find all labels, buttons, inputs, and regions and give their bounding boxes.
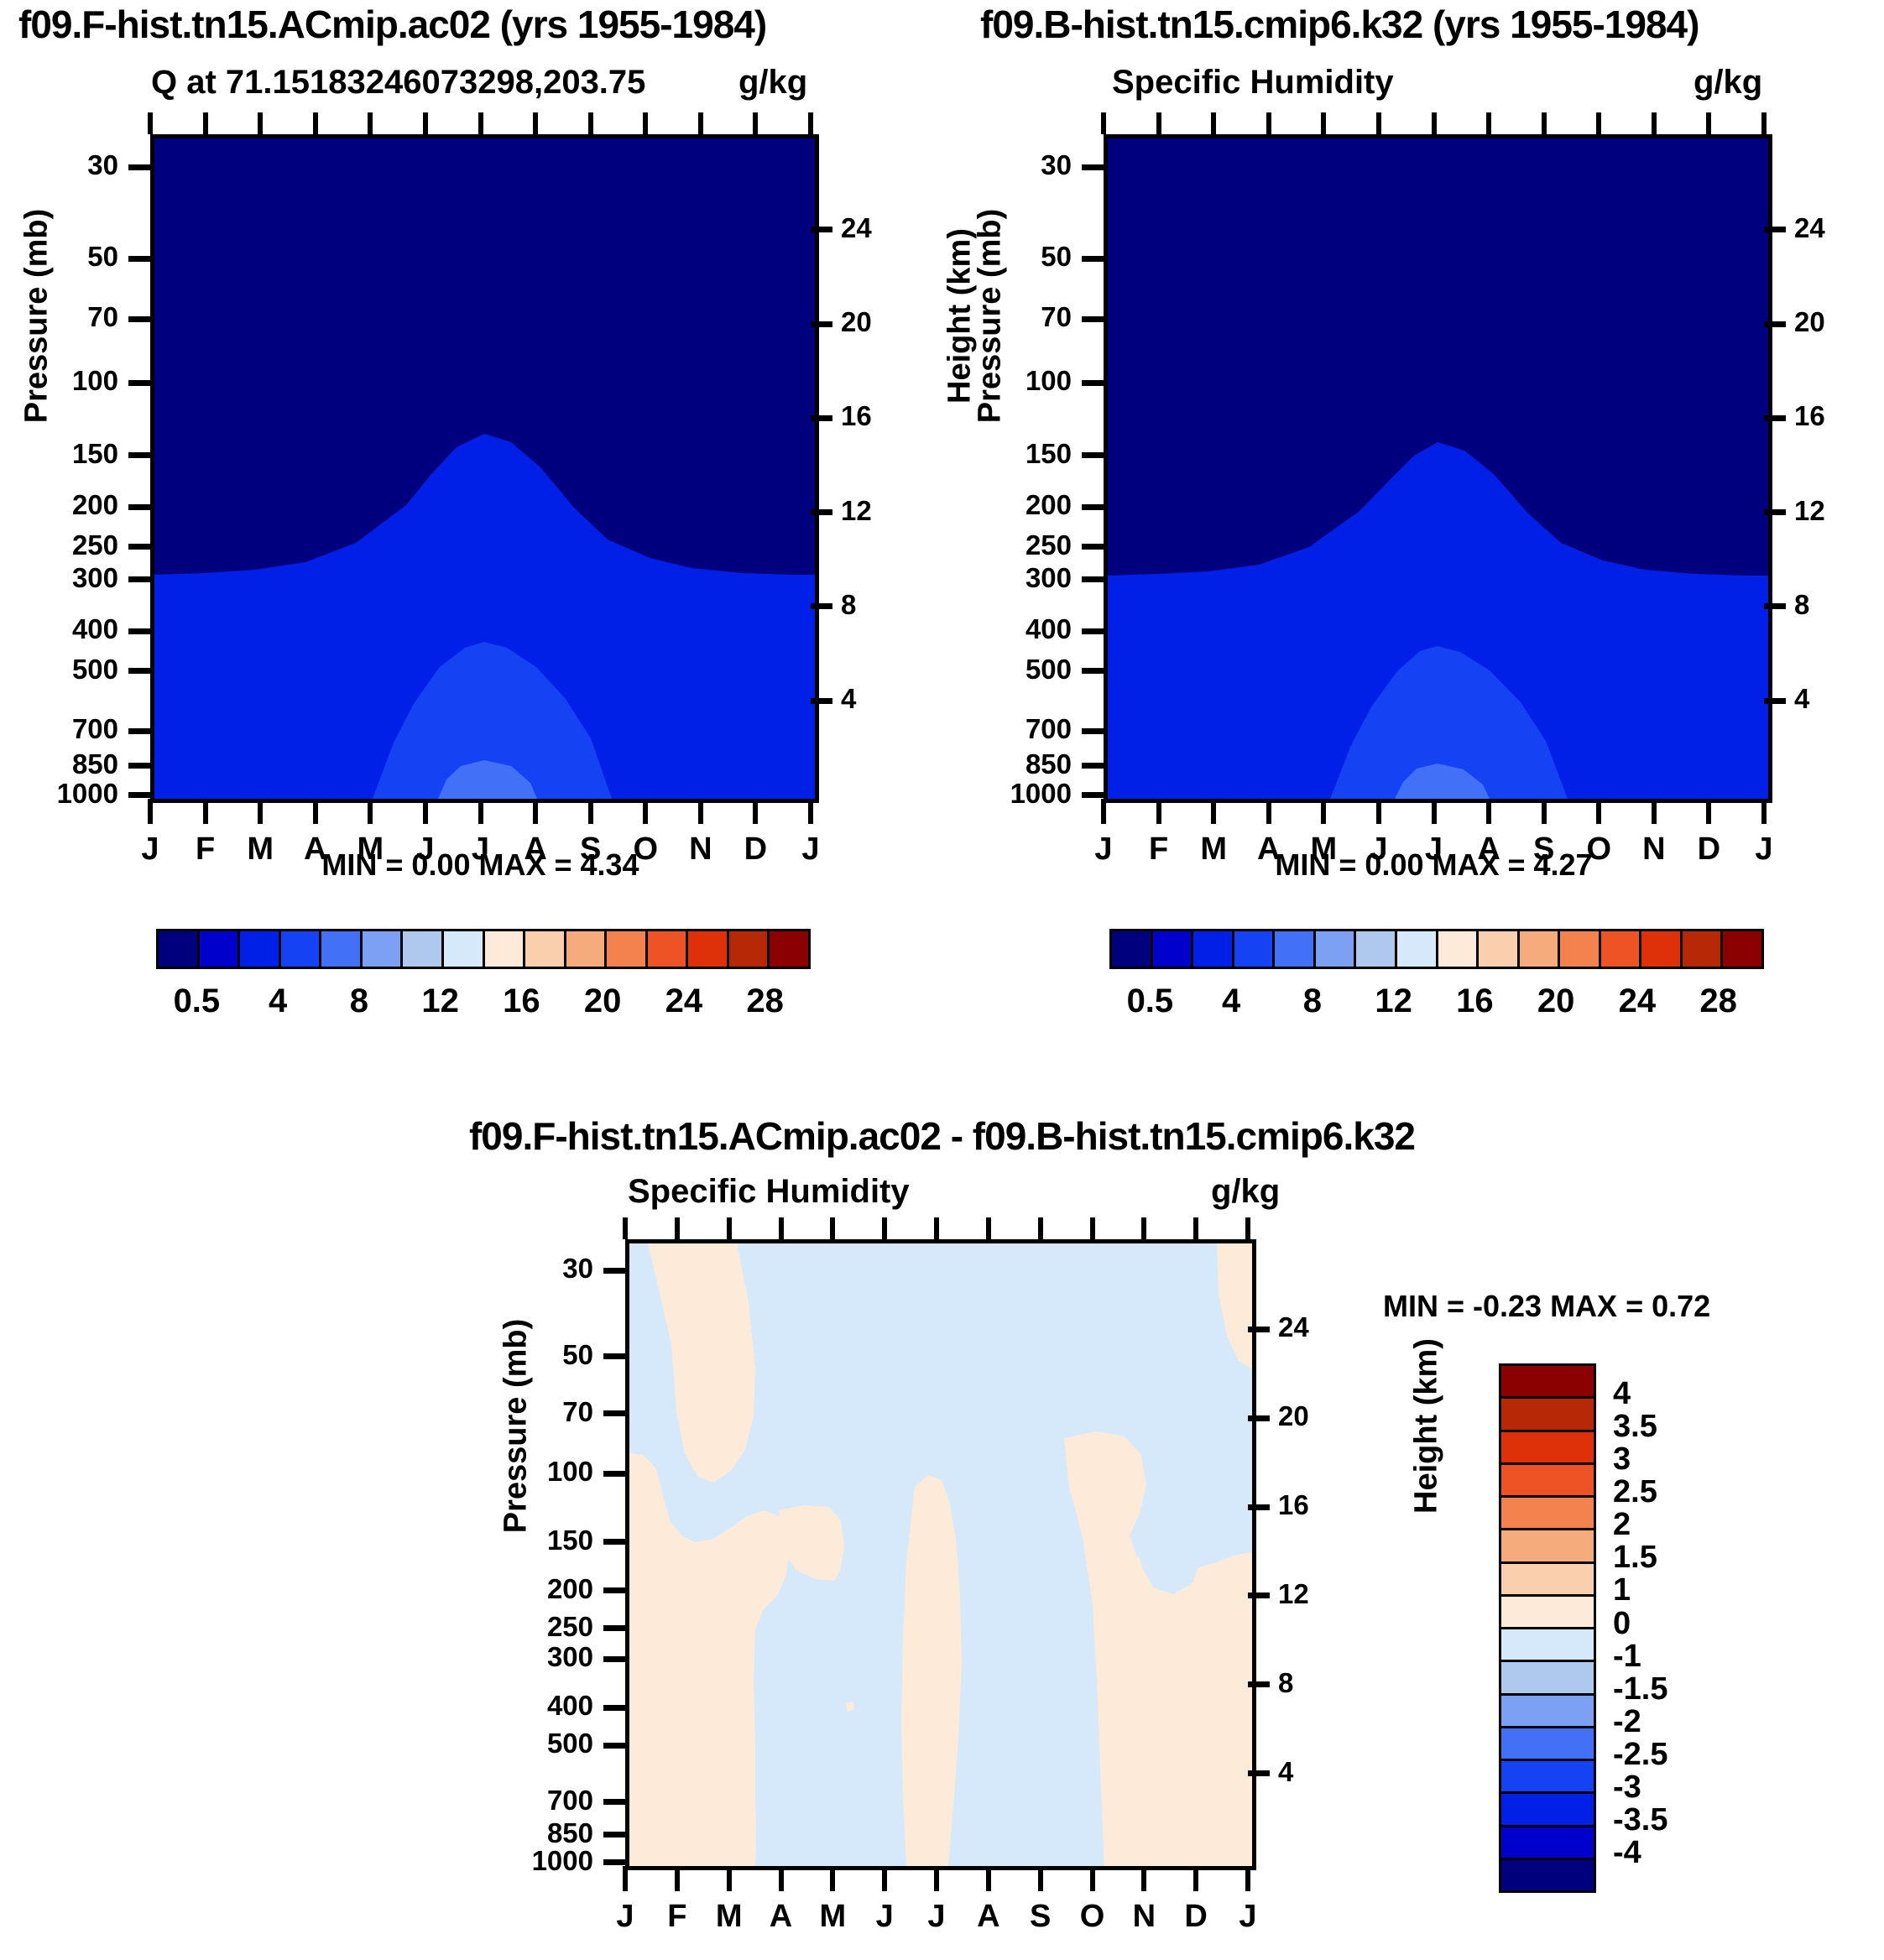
bottom-tick [808,799,813,824]
height-tick-label-24: 24 [1794,212,1861,244]
height-tick [811,415,832,421]
diff-panel-units: g/kg [1211,1173,1280,1211]
pressure-tick-label-500: 500 [911,654,1072,685]
diff-colorbar-swatch-8[interactable] [1501,1629,1594,1662]
height-tick [811,321,832,327]
colorbar-swatch-14[interactable] [1683,931,1724,967]
colorbar-swatch-11[interactable] [607,931,648,967]
diff-colorbar-swatch-11[interactable] [1501,1728,1594,1761]
pressure-tick-label-200: 200 [0,489,118,521]
height-tick [1764,603,1786,609]
height-tick [1248,1327,1270,1332]
height-tick-label-4: 4 [841,683,908,715]
top-tick [258,112,263,134]
top-tick [643,112,648,134]
top-tick [1432,112,1437,134]
pressure-tick-label-700: 700 [911,713,1072,745]
pressure-tick [603,1705,625,1711]
pressure-tick-label-150: 150 [432,1525,593,1556]
pressure-tick-label-150: 150 [911,438,1072,470]
bottom-tick [1542,799,1547,824]
pressure-tick-label-500: 500 [432,1728,593,1759]
bottom-tick [148,799,153,824]
pressure-tick-label-100: 100 [432,1456,593,1488]
bottom-tick [1090,1866,1095,1891]
bottom-tick [1193,1866,1198,1891]
top-tick [1706,112,1711,134]
pressure-tick-label-700: 700 [0,713,118,745]
top-tick [1376,112,1381,134]
left-panel-title: f09.F-hist.tn15.ACmip.ac02 (yrs 1955-198… [18,2,766,47]
colorbar-swatch-2[interactable] [1193,931,1234,967]
diff-colorbar-label-12: -3 [1613,1770,1756,1806]
pressure-tick [1082,452,1104,458]
top-tick [1652,112,1657,134]
pressure-tick [128,728,150,734]
diff-colorbar-swatch-2[interactable] [1501,1432,1594,1465]
pressure-tick [1082,576,1104,582]
pressure-tick [603,1625,625,1631]
top-tick [1090,1217,1095,1239]
top-tick [753,112,758,134]
bottom-tick [313,799,318,824]
diff-colorbar-label-5: 1.5 [1613,1540,1756,1576]
pressure-tick-label-30: 30 [911,149,1072,181]
bottom-tick [368,799,373,824]
colorbar-swatch-14[interactable] [729,931,770,967]
height-tick [1764,509,1786,515]
colorbar-swatch-8[interactable] [485,931,526,967]
height-tick [811,227,832,232]
diff-panel-y2label: Height (km) [1409,1317,1445,1535]
top-tick [1486,112,1491,134]
right-panel-units: g/kg [1694,64,1762,102]
bottom-tick [727,1866,732,1891]
top-tick [588,112,593,134]
bottom-tick [675,1866,680,1891]
height-tick-label-4: 4 [1794,683,1861,715]
pressure-tick [1082,316,1104,322]
diff-colorbar-label-0: 4 [1613,1376,1756,1412]
diff-colorbar-swatch-14[interactable] [1501,1827,1594,1860]
diff-colorbar-swatch-4[interactable] [1501,1498,1594,1530]
diff-panel-subtitle: Specific Humidity [628,1173,910,1211]
top-tick [986,1217,991,1239]
pressure-tick [603,1539,625,1545]
height-tick [1248,1770,1270,1776]
diff-colorbar-label-1: 3.5 [1613,1409,1756,1445]
pressure-tick-label-850: 850 [911,748,1072,780]
colorbar-swatch-1[interactable] [1153,931,1194,967]
right-panel-minmax: MIN = 0.00 MAX = 4.27 [1104,847,1764,883]
pressure-tick-label-200: 200 [911,489,1072,521]
colorbar-swatch-10[interactable] [1520,931,1561,967]
diff-colorbar-swatch-1[interactable] [1501,1399,1594,1431]
top-tick [313,112,318,134]
colorbar-swatch-15[interactable] [1723,931,1761,967]
pressure-tick-label-850: 850 [0,748,118,780]
left-panel-subtitle: Q at 71.15183246073298,203.75 [151,64,645,102]
right-panel-title: f09.B-hist.tn15.cmip6.k32 (yrs 1955-1984… [980,2,1699,47]
pressure-tick [1082,380,1104,386]
pressure-tick [603,1799,625,1805]
top-tick [423,112,428,134]
height-tick-label-24: 24 [1278,1311,1345,1343]
top-tick [779,1217,784,1239]
pressure-tick [603,1587,625,1593]
height-tick [1764,321,1786,327]
colorbar-label-28: 28 [707,983,824,1020]
colorbar-swatch-11[interactable] [1560,931,1601,967]
top-tick [1761,112,1767,134]
bottom-tick [1245,1866,1250,1891]
pressure-tick-label-1000: 1000 [432,1845,593,1877]
pressure-tick-label-400: 400 [911,613,1072,645]
pressure-tick-label-150: 150 [0,438,118,470]
diff-colorbar-swatch-13[interactable] [1501,1794,1594,1827]
bottom-tick [588,799,593,824]
height-tick-label-8: 8 [1278,1667,1345,1699]
bottom-tick [1211,799,1216,824]
colorbar-swatch-3[interactable] [1234,931,1276,967]
diff-colorbar-label-13: -3.5 [1613,1802,1756,1838]
bottom-tick [1761,799,1767,824]
pressure-tick-label-250: 250 [911,529,1072,561]
diff-colorbar-label-11: -2.5 [1613,1737,1756,1773]
top-tick [1193,1217,1198,1239]
diff-panel-contours [629,1243,1252,1866]
pressure-tick-label-100: 100 [0,365,118,397]
bottom-tick [1038,1866,1043,1891]
colorbar-swatch-1[interactable] [200,931,241,967]
pressure-tick [1082,256,1104,262]
height-tick-label-16: 16 [841,400,908,432]
top-tick [1596,112,1601,134]
top-tick [533,112,538,134]
height-tick-label-20: 20 [841,306,908,338]
bottom-tick [478,799,483,824]
diff-colorbar-label-10: -2 [1613,1704,1756,1740]
top-tick [727,1217,732,1239]
top-tick [698,112,703,134]
colorbar-swatch-5[interactable] [1316,931,1357,967]
top-tick [934,1217,939,1239]
left-panel-minmax: MIN = 0.00 MAX = 4.34 [150,847,811,883]
diff-colorbar-swatch-5[interactable] [1501,1530,1594,1563]
pressure-tick [128,256,150,262]
top-tick [1211,112,1216,134]
diff-colorbar[interactable] [1499,1363,1596,1893]
pressure-tick-label-70: 70 [432,1396,593,1428]
height-tick [1764,227,1786,232]
bottom-tick [986,1866,991,1891]
right-panel-plot [1104,134,1772,803]
top-tick [478,112,483,134]
top-tick [1266,112,1271,134]
colorbar-swatch-7[interactable] [1397,931,1438,967]
diff-colorbar-swatch-7[interactable] [1501,1597,1594,1629]
bottom-tick [203,799,208,824]
pressure-tick [128,164,150,170]
top-tick [675,1217,680,1239]
diff-colorbar-label-4: 2 [1613,1507,1756,1543]
diff-colorbar-swatch-6[interactable] [1501,1564,1594,1597]
pressure-tick [603,1832,625,1837]
pressure-tick-label-250: 250 [432,1611,593,1643]
pressure-tick-label-30: 30 [432,1253,593,1285]
pressure-tick-label-300: 300 [911,562,1072,594]
pressure-tick [128,316,150,322]
height-tick [811,509,832,515]
colorbar-label-28: 28 [1660,983,1777,1020]
top-tick [148,112,153,134]
top-tick [1542,112,1547,134]
left-panel-plot [150,134,819,803]
bottom-tick [830,1866,835,1891]
pressure-tick [128,628,150,634]
bottom-tick [882,1866,887,1891]
top-tick [1321,112,1326,134]
pressure-tick [128,504,150,510]
pressure-tick-label-50: 50 [0,241,118,273]
height-tick [1764,415,1786,421]
diff-colorbar-label-14: -4 [1613,1835,1756,1871]
height-tick-label-16: 16 [1278,1489,1345,1521]
pressure-tick-label-70: 70 [911,301,1072,333]
pressure-tick [1082,164,1104,170]
diff-colorbar-label-3: 2.5 [1613,1474,1756,1510]
colorbar-swatch-13[interactable] [1641,931,1683,967]
pressure-tick [1082,792,1104,798]
colorbar-swatch-2[interactable] [240,931,281,967]
pressure-tick [128,544,150,550]
bottom-tick [1652,799,1657,824]
top-tick [203,112,208,134]
height-tick-label-20: 20 [1278,1400,1345,1432]
colorbar-swatch-10[interactable] [566,931,608,967]
bottom-tick [1596,799,1601,824]
pressure-tick [128,452,150,458]
top-tick [1101,112,1106,134]
pressure-tick [603,1268,625,1274]
height-tick [1248,1681,1270,1687]
top-tick [1245,1217,1250,1239]
colorbar-swatch-12[interactable] [1601,931,1642,967]
colorbar-swatch-8[interactable] [1438,931,1480,967]
height-tick [1248,1504,1270,1510]
height-tick-label-12: 12 [1278,1578,1345,1610]
month-label-12: J [1214,1899,1281,1935]
colorbar-swatch-4[interactable] [321,931,363,967]
pressure-tick-label-400: 400 [0,613,118,645]
pressure-tick [603,1410,625,1416]
top-tick [368,112,373,134]
diff-colorbar-label-2: 3 [1613,1441,1756,1478]
pressure-tick [603,1743,625,1749]
diff-colorbar-swatch-0[interactable] [1501,1366,1594,1399]
pressure-tick-label-1000: 1000 [911,778,1072,810]
colorbar-swatch-5[interactable] [363,931,404,967]
pressure-tick-label-250: 250 [0,529,118,561]
bottom-tick [623,1866,628,1891]
pressure-tick-label-200: 200 [432,1573,593,1605]
height-tick-label-8: 8 [841,589,908,621]
colorbar-swatch-7[interactable] [444,931,485,967]
pressure-tick-label-30: 30 [0,149,118,181]
pressure-tick [1082,628,1104,634]
right-panel-subtitle: Specific Humidity [1112,64,1394,102]
height-tick [811,698,832,704]
pressure-tick-label-100: 100 [911,365,1072,397]
bottom-tick [423,799,428,824]
top-tick [1156,112,1161,134]
bottom-tick [1706,799,1711,824]
pressure-tick-label-300: 300 [0,562,118,594]
pressure-tick-label-400: 400 [432,1690,593,1722]
pressure-tick-label-500: 500 [0,654,118,685]
height-tick-label-20: 20 [1794,306,1861,338]
pressure-tick [603,1353,625,1359]
height-tick [811,603,832,609]
pressure-tick [1082,504,1104,510]
diff-panel-title: f09.F-hist.tn15.ACmip.ac02 - f09.B-hist.… [0,1113,1884,1159]
diff-colorbar-label-8: -1 [1613,1639,1756,1675]
colorbar-swatch-15[interactable] [770,931,808,967]
colorbar-swatch-12[interactable] [648,931,689,967]
diff-colorbar-swatch-12[interactable] [1501,1761,1594,1794]
pressure-tick [1082,668,1104,674]
height-tick [1248,1415,1270,1421]
bottom-tick [258,799,263,824]
pressure-tick [128,380,150,386]
top-tick [882,1217,887,1239]
bottom-tick [1101,799,1106,824]
colorbar-swatch-0[interactable] [159,931,200,967]
top-tick [808,112,813,134]
diff-panel-plot [625,1239,1256,1870]
colorbar-swatch-4[interactable] [1275,931,1316,967]
colorbar-swatch-6[interactable] [403,931,444,967]
bottom-tick [753,799,758,824]
pressure-tick-label-70: 70 [0,301,118,333]
pressure-tick [603,1859,625,1865]
bottom-tick [1486,799,1491,824]
bottom-tick [698,799,703,824]
colorbar-swatch-3[interactable] [281,931,322,967]
colorbar-swatch-9[interactable] [1479,931,1520,967]
bottom-tick [1432,799,1437,824]
height-tick-label-16: 16 [1794,400,1861,432]
height-tick [1248,1592,1270,1598]
bottom-tick [934,1866,939,1891]
left-colorbar[interactable] [156,929,811,969]
pressure-tick [128,763,150,769]
right-panel-contours [1108,138,1768,799]
height-tick-label-12: 12 [1794,495,1861,527]
bottom-tick [1266,799,1271,824]
left-panel-units: g/kg [738,64,807,102]
pressure-tick-label-50: 50 [911,241,1072,273]
pressure-tick [128,668,150,674]
pressure-tick [1082,728,1104,734]
diff-colorbar-swatch-3[interactable] [1501,1465,1594,1498]
pressure-tick-label-1000: 1000 [0,778,118,810]
pressure-tick [128,576,150,582]
pressure-tick-label-300: 300 [432,1641,593,1673]
colorbar-swatch-9[interactable] [525,931,566,967]
diff-colorbar-label-7: 0 [1613,1606,1756,1642]
pressure-tick [1082,763,1104,769]
colorbar-swatch-0[interactable] [1112,931,1153,967]
diff-panel-minmax: MIN = -0.23 MAX = 0.72 [1383,1289,1710,1324]
left-panel-contours [154,138,815,799]
pressure-tick [1082,544,1104,550]
diff-colorbar-label-6: 1 [1613,1572,1756,1608]
bottom-tick [779,1866,784,1891]
bottom-tick [1321,799,1326,824]
bottom-tick [1156,799,1161,824]
bottom-tick [1376,799,1381,824]
top-tick [1141,1217,1146,1239]
top-tick [1038,1217,1043,1239]
pressure-tick-label-700: 700 [432,1785,593,1817]
top-tick [623,1217,628,1239]
diff-colorbar-swatch-15[interactable] [1501,1860,1594,1890]
pressure-tick [603,1656,625,1662]
bottom-tick [533,799,538,824]
pressure-tick-label-50: 50 [432,1339,593,1371]
bottom-tick [643,799,648,824]
top-tick [830,1217,835,1239]
colorbar-swatch-6[interactable] [1356,931,1397,967]
height-tick-label-12: 12 [841,495,908,527]
height-tick [1764,698,1786,704]
diff-colorbar-swatch-9[interactable] [1501,1662,1594,1695]
height-tick-label-4: 4 [1278,1756,1345,1788]
height-tick-label-24: 24 [841,212,908,244]
pressure-tick [128,792,150,798]
diff-colorbar-swatch-10[interactable] [1501,1696,1594,1728]
right-colorbar[interactable] [1109,929,1764,969]
colorbar-swatch-13[interactable] [688,931,729,967]
bottom-tick [1141,1866,1146,1891]
pressure-tick [603,1471,625,1477]
diff-colorbar-label-9: -1.5 [1613,1671,1756,1707]
height-tick-label-8: 8 [1794,589,1861,621]
